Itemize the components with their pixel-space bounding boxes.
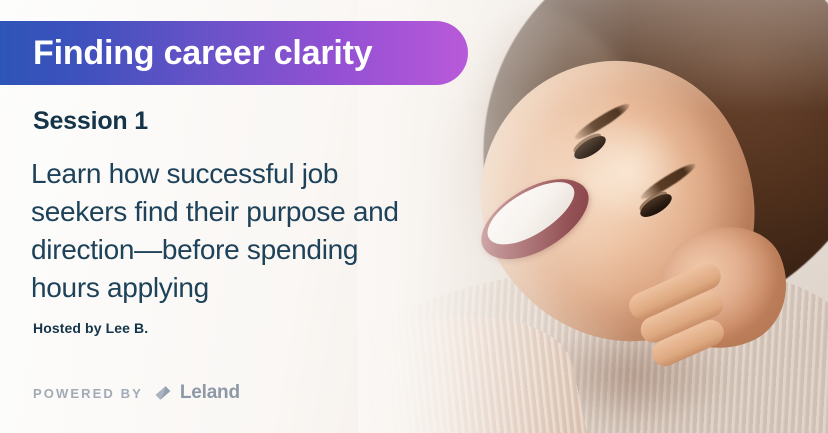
card-content: Finding career clarity Session 1 Learn h… — [0, 0, 828, 433]
session-label: Session 1 — [33, 107, 148, 136]
host-label: Hosted by Lee B. — [33, 320, 148, 336]
leland-diamond-icon — [153, 383, 173, 403]
session-promo-card: Finding career clarity Session 1 Learn h… — [0, 0, 828, 433]
powered-by-label: POWERED BY — [33, 386, 143, 401]
footer-attribution: POWERED BY Leland — [33, 382, 240, 404]
session-description: Learn how successful job seekers find th… — [31, 155, 431, 307]
page-title: Finding career clarity — [33, 34, 373, 73]
title-banner: Finding career clarity — [0, 21, 468, 85]
leland-brand: Leland — [153, 382, 240, 404]
leland-wordmark: Leland — [180, 382, 240, 404]
